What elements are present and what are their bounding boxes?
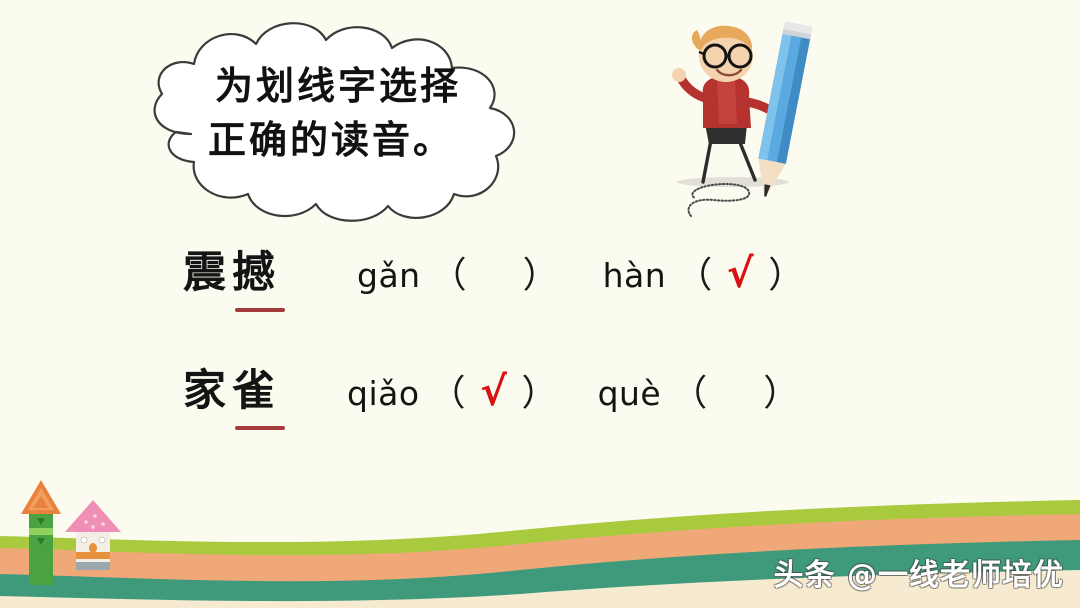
bracket-close: ） <box>523 246 559 298</box>
bracket-open: （ <box>431 246 467 298</box>
option-bracket[interactable]: （ √ ） <box>430 364 558 416</box>
option-pinyin: què <box>598 374 662 413</box>
check-mark-icon[interactable]: √ <box>712 256 768 292</box>
question-row: 家雀 qiǎo （ √ ） què （ ） <box>0 356 1080 474</box>
check-mark-icon[interactable]: √ <box>466 374 522 410</box>
option-choice[interactable]: hàn （ √ ） <box>603 246 805 298</box>
option-choice[interactable]: què （ ） <box>598 364 800 416</box>
slide-canvas: 为划线字选择 正确的读音。 <box>0 0 1080 608</box>
options-group: qiǎo （ √ ） què （ ） <box>335 364 799 416</box>
bracket-open: （ <box>671 364 707 416</box>
instruction-cloud-bubble: 为划线字选择 正确的读音。 <box>128 14 548 230</box>
option-pinyin: hàn <box>603 256 667 295</box>
option-bracket[interactable]: （ ） <box>431 246 559 298</box>
instruction-line-2: 正确的读音。 <box>208 115 454 169</box>
word-block: 震撼 <box>183 238 335 300</box>
bracket-close: ） <box>522 364 558 416</box>
question-row: 震撼 gǎn （ ） hàn （ √ ） <box>0 238 1080 356</box>
bracket-open: （ <box>430 364 466 416</box>
bracket-close: ） <box>768 246 804 298</box>
pink-house-decoration <box>65 500 121 570</box>
green-tower-decoration <box>21 480 61 585</box>
word-text: 震撼 <box>183 238 335 300</box>
bracket-close: ） <box>763 364 799 416</box>
instruction-text-block: 为划线字选择 正确的读音。 <box>128 14 548 230</box>
instruction-line-1: 为划线字选择 <box>215 61 461 115</box>
watermark-text: 头条 @一线老师培优 <box>774 550 1064 594</box>
word-underline <box>235 426 285 430</box>
option-pinyin: gǎn <box>357 256 421 295</box>
question-list: 震撼 gǎn （ ） hàn （ √ ） <box>0 238 1080 474</box>
options-group: gǎn （ ） hàn （ √ ） <box>335 246 804 298</box>
word-underline <box>235 308 285 312</box>
option-bracket[interactable]: （ ） <box>671 364 799 416</box>
option-pinyin: qiǎo <box>347 374 420 413</box>
word-text: 家雀 <box>183 356 335 418</box>
option-bracket[interactable]: （ √ ） <box>676 246 804 298</box>
option-choice[interactable]: gǎn （ ） <box>357 246 559 298</box>
bracket-open: （ <box>676 246 712 298</box>
option-choice[interactable]: qiǎo （ √ ） <box>347 364 558 416</box>
boy-with-pencil-illustration <box>655 20 825 220</box>
word-block: 家雀 <box>183 356 335 418</box>
